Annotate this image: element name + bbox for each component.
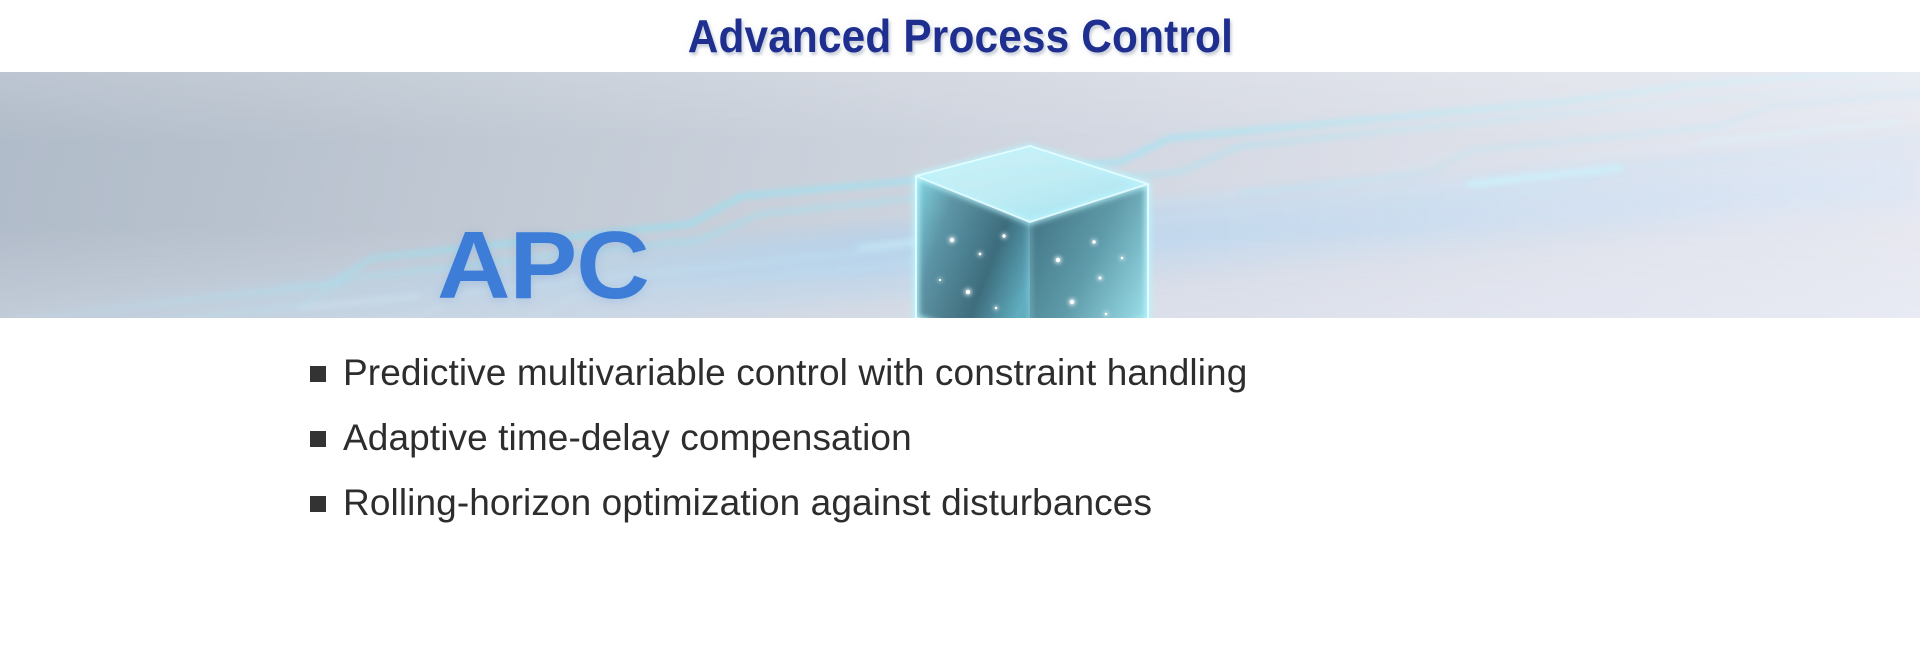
list-item: Rolling-horizon optimization against dis… [310, 482, 1920, 547]
bullet-list: Predictive multivariable control with co… [0, 330, 1920, 656]
glass-cube-icon [880, 132, 1180, 318]
list-item: Adaptive time-delay compensation [310, 417, 1920, 482]
square-bullet-icon [310, 496, 326, 512]
list-item: Predictive multivariable control with co… [310, 352, 1920, 417]
page-title-container: Advanced Process Control [0, 0, 1920, 72]
page-title: Advanced Process Control [687, 9, 1232, 63]
list-item-label: Rolling-horizon optimization against dis… [343, 482, 1152, 524]
square-bullet-icon [310, 366, 326, 382]
list-item-label: Adaptive time-delay compensation [343, 417, 912, 459]
square-bullet-icon [310, 431, 326, 447]
slide-root: Advanced Process Control [0, 0, 1920, 656]
hero-banner: APC [0, 72, 1920, 318]
apc-logo-text: APC [437, 222, 649, 310]
list-item-label: Predictive multivariable control with co… [343, 352, 1247, 394]
